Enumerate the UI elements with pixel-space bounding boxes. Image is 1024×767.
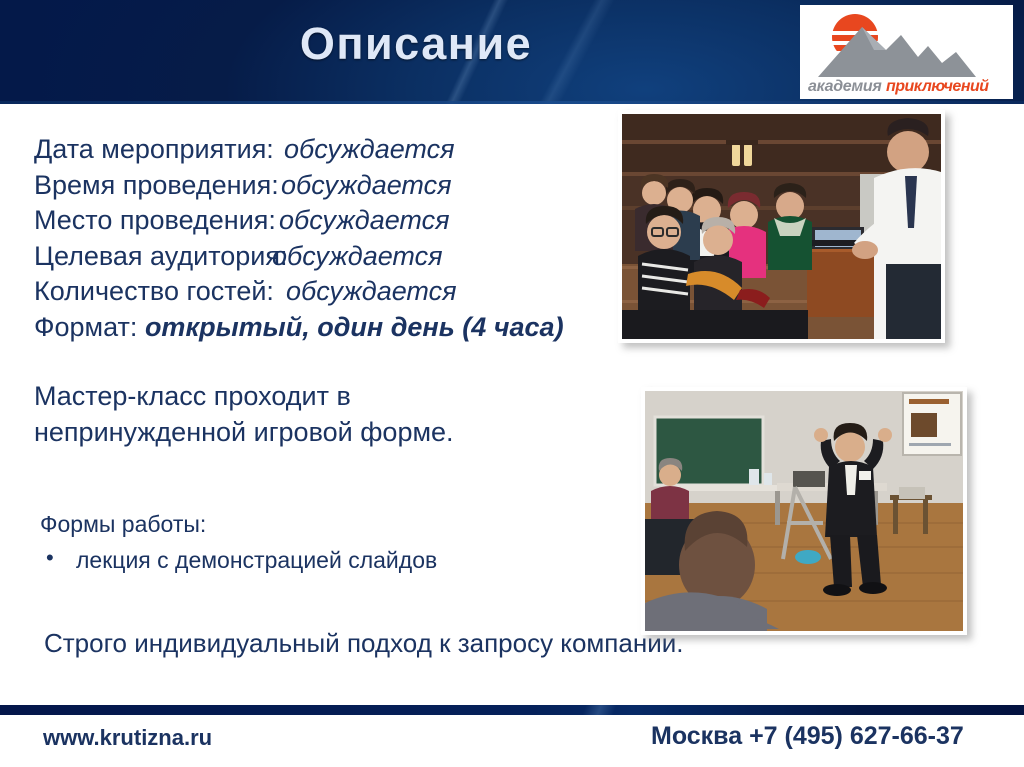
company-logo: академия приключений	[800, 5, 1013, 99]
logo-wordmark: академия приключений	[808, 79, 1008, 95]
detail-value: обсуждается	[272, 241, 443, 271]
detail-label: Количество гостей:	[34, 274, 286, 310]
event-details-block: Дата мероприятия:обсуждается Время прове…	[34, 132, 634, 345]
list-item: лекция с демонстрацией слайдов	[40, 545, 600, 575]
detail-row-date: Дата мероприятия:обсуждается	[34, 132, 634, 168]
detail-row-place: Место проведения:обсуждается	[34, 203, 634, 239]
detail-label: Время проведения:	[34, 168, 281, 204]
presentation-slide: Описание академия приключений Дата мероп…	[0, 0, 1024, 767]
footer-website[interactable]: www.krutizna.ru	[43, 725, 212, 751]
description-line-1: Мастер-класс проходит в	[34, 379, 634, 415]
detail-label: Дата мероприятия:	[34, 132, 284, 168]
detail-row-format: Формат: открытый, один день (4 часа)	[34, 310, 634, 346]
seminar-audience-illustration	[622, 114, 941, 339]
description-paragraph: Мастер-класс проходит в непринужденной и…	[34, 379, 634, 450]
detail-value: обсуждается	[279, 205, 450, 235]
logo-word-adventures: приключений	[886, 78, 989, 95]
detail-row-time: Время проведения:обсуждается	[34, 168, 634, 204]
detail-value: обсуждается	[284, 134, 455, 164]
detail-label: Целевая аудитория:	[34, 239, 272, 275]
forms-list: лекция с демонстрацией слайдов	[40, 545, 600, 575]
classroom-presenter-illustration	[645, 391, 963, 631]
page-title: Описание	[0, 18, 832, 70]
forms-heading: Формы работы:	[40, 509, 206, 539]
format-label: Формат:	[34, 312, 137, 342]
format-value: открытый, один день (4 часа)	[145, 312, 564, 342]
footer-divider	[0, 705, 1024, 715]
detail-value: обсуждается	[286, 276, 457, 306]
detail-row-audience: Целевая аудитория:обсуждается	[34, 239, 634, 275]
seminar-audience-photo	[618, 110, 945, 343]
footer-contact: Москва +7 (495) 627-66-37	[651, 722, 964, 751]
closing-statement: Строго индивидуальный подход к запросу к…	[44, 626, 683, 660]
logo-word-academy: академия	[808, 78, 882, 95]
detail-row-guests: Количество гостей:обсуждается	[34, 274, 634, 310]
detail-value: обсуждается	[281, 170, 452, 200]
detail-label: Место проведения:	[34, 203, 279, 239]
classroom-presenter-photo	[641, 387, 967, 635]
description-line-2: непринужденной игровой форме.	[34, 415, 634, 451]
